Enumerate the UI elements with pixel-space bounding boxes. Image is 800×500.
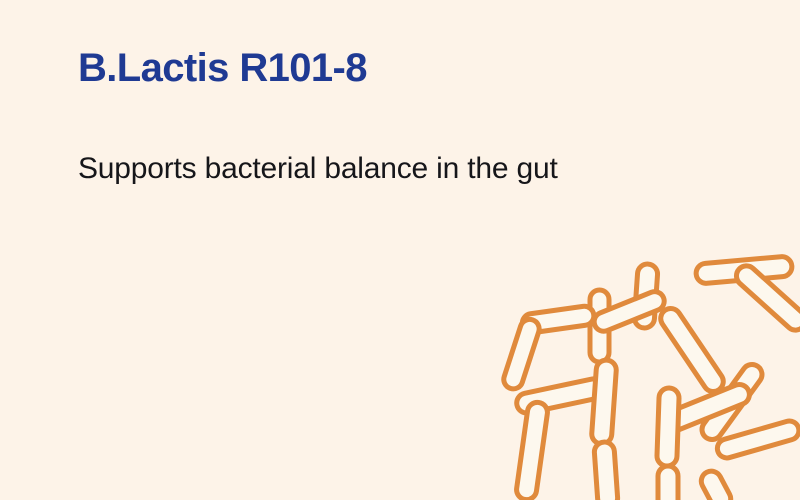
page-title: B.Lactis R101-8 [78,44,738,92]
product-card: B.Lactis R101-8 Supports bacterial balan… [0,0,800,500]
bacteria-rod [698,361,766,444]
bacteria-rod [658,466,678,500]
bacteria-rod [515,377,605,415]
bacteria-rod [732,262,800,334]
bacteria-rod [501,317,541,391]
bacteria-rod [657,388,680,467]
bacteria-rod [695,256,792,284]
text-block: B.Lactis R101-8 Supports bacterial balan… [78,44,738,188]
bacteria-rod [591,289,667,334]
bacteria-rod [657,305,727,396]
bacteria-rods-illustration [500,240,800,500]
bacteria-rod [698,468,734,500]
bacteria-rod [521,305,595,334]
bacteria-rod [715,419,800,460]
bacteria-rod [594,441,619,500]
bacteria-rod [660,381,753,434]
bacteria-rod [515,401,548,500]
bacteria-rod [590,290,609,362]
bacteria-rod [591,359,617,444]
bacteria-rod [634,263,658,328]
page-subtitle: Supports bacterial balance in the gut [78,92,738,188]
